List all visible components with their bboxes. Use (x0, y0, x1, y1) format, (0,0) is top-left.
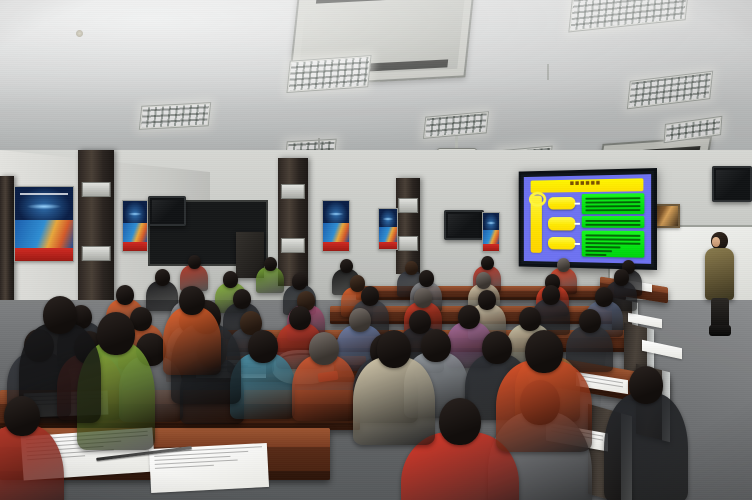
audience-member-head (289, 306, 311, 330)
head (4, 396, 40, 436)
dark-wood-pillar-left (78, 150, 114, 310)
audience-member-head (340, 259, 353, 273)
dark-wood-pillar-center (278, 158, 308, 286)
audience-member-head (614, 269, 629, 286)
audience-member-head (223, 271, 238, 288)
wall-monitor-center (444, 210, 484, 240)
audience-member-head (405, 261, 418, 275)
audience-member-head (421, 329, 451, 362)
projection-screen: ■■■■■■ (519, 168, 657, 270)
slide-box-2 (548, 217, 575, 230)
head (179, 286, 205, 315)
head (439, 398, 481, 445)
audience-member-head (542, 285, 560, 305)
presenter-legs (711, 298, 729, 328)
audience-member-head (476, 272, 491, 289)
slide-text-block-3 (582, 230, 645, 257)
audience-member-head (349, 308, 371, 332)
wall-poster-4 (378, 208, 398, 250)
slide-box-3 (548, 237, 575, 250)
torso (604, 393, 688, 500)
wall-poster-2 (122, 200, 148, 252)
presenter (703, 232, 737, 336)
audience-member-head (233, 289, 251, 309)
audience-member-head (188, 255, 201, 269)
head (377, 330, 411, 368)
dark-wood-pillar-right (396, 178, 420, 274)
slide-key-graphic (531, 195, 542, 253)
wall-poster-3 (322, 200, 350, 252)
slide-text-block-1 (582, 193, 645, 214)
torso (163, 307, 221, 375)
head (525, 330, 563, 373)
wall-monitor-right (712, 166, 752, 202)
presenter-boots (709, 325, 731, 336)
audience-member-head (482, 331, 512, 364)
audience-member-head (116, 285, 134, 305)
audience-member-head (595, 287, 613, 307)
audience-member-head (264, 257, 277, 271)
audience-member-head (361, 286, 379, 306)
audience-member-head (155, 269, 170, 286)
wall-poster-5 (482, 212, 500, 252)
audience-member-head (458, 305, 480, 329)
head (97, 312, 135, 355)
head (43, 296, 77, 334)
torso (496, 360, 592, 452)
presenter-face (712, 237, 720, 247)
wall-monitor-left (148, 196, 186, 226)
head (629, 366, 663, 404)
audience-member-head (309, 332, 339, 365)
audience-member-head (519, 307, 541, 331)
wall-poster-1 (14, 186, 74, 262)
audience-member-torso (256, 267, 284, 293)
lecture-hall-photo: ■■■■■■ (0, 0, 752, 500)
audience-member-head (248, 330, 278, 363)
slide-title-text: ■■■■■■ (531, 178, 643, 189)
torso (353, 357, 435, 445)
slide-title-bar: ■■■■■■ (531, 178, 643, 193)
audience-member-head (481, 256, 494, 270)
audience-member-head (557, 258, 570, 272)
audience-member-head (414, 288, 432, 308)
slide-text-block-2 (582, 216, 645, 228)
slide-box-1 (548, 197, 575, 210)
audience-member-head (478, 290, 496, 310)
audience-member-torso (566, 326, 613, 372)
audience-member-head (419, 270, 434, 287)
presenter-coat (705, 248, 734, 300)
audience-member-head (292, 273, 307, 290)
presentation-slide: ■■■■■■ (524, 174, 651, 264)
audience-member-head (579, 309, 601, 333)
audience-member-torso (292, 355, 357, 421)
